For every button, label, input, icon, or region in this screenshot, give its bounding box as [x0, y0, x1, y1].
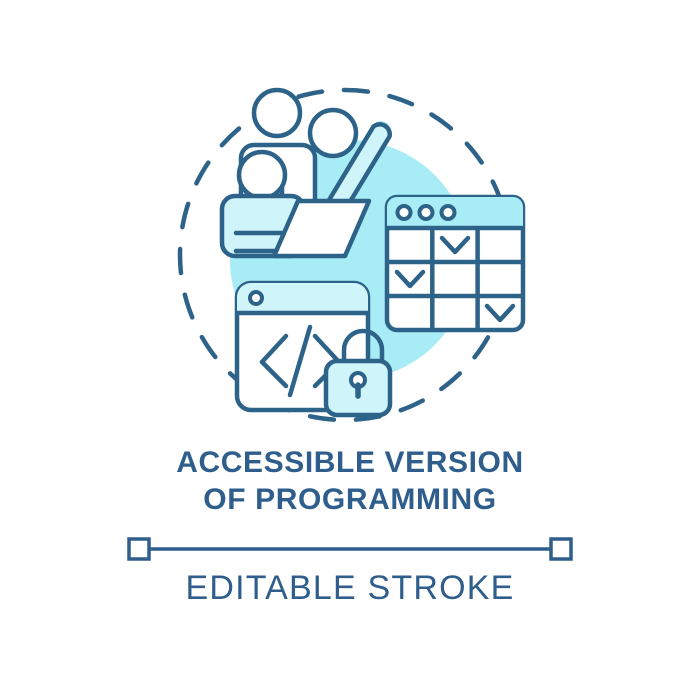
- page-title: ACCESSIBLE VERSION OF PROGRAMMING: [0, 444, 700, 518]
- window-dot-icon: [398, 206, 411, 219]
- editable-stroke-label: EDITABLE STROKE: [0, 567, 700, 609]
- person-1-head: [254, 90, 300, 136]
- editable-stroke-path: [0, 532, 700, 568]
- title-line-2: OF PROGRAMMING: [0, 481, 700, 518]
- window-dot-icon: [250, 292, 262, 304]
- concept-illustration: [0, 0, 700, 440]
- person-3-head: [239, 152, 285, 198]
- stroke-handle-left[interactable]: [129, 539, 149, 559]
- title-line-1: ACCESSIBLE VERSION: [0, 444, 700, 481]
- footer-caption: EDITABLE STROKE: [0, 567, 700, 609]
- window-dot-icon: [420, 206, 433, 219]
- concept-icon-page: ACCESSIBLE VERSION OF PROGRAMMING EDITAB…: [0, 0, 700, 700]
- person-2-head: [310, 110, 356, 156]
- spreadsheet-window[interactable]: [387, 197, 523, 330]
- stroke-handle-right[interactable]: [551, 539, 571, 559]
- window-dot-icon: [442, 206, 455, 219]
